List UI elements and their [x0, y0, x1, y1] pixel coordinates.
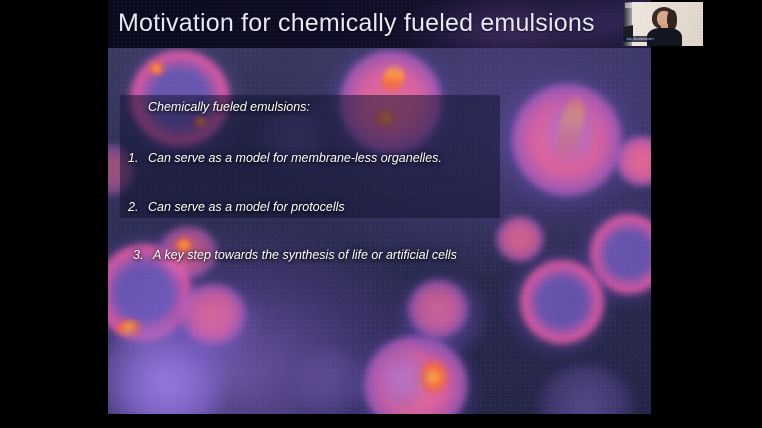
bullet-item-3: 3. A key step towards the synthesis of l…	[133, 248, 457, 262]
slide-title: Motivation for chemically fueled emulsio…	[118, 9, 595, 38]
screen-share-viewport: Motivation for chemically fueled emulsio…	[0, 0, 762, 428]
bullet-number-1: 1.	[128, 151, 148, 165]
presenter-name-label: Job Boekhoven	[626, 36, 654, 42]
bullet-number-3: 3.	[133, 248, 153, 262]
bullet-text-2: Can serve as a model for protocells	[148, 200, 345, 214]
bullet-number-2: 2.	[128, 200, 148, 214]
slide-heading: Chemically fueled emulsions:	[148, 100, 310, 114]
bullet-item-1: 1. Can serve as a model for membrane-les…	[128, 151, 442, 165]
bullet-text-3: A key step towards the synthesis of life…	[153, 248, 457, 262]
webcam-badge	[625, 3, 634, 8]
presenter-hair-right	[667, 10, 677, 30]
slide-body-text: Chemically fueled emulsions: 1. Can serv…	[108, 48, 651, 414]
bullet-item-2: 2. Can serve as a model for protocells	[128, 200, 345, 214]
presentation-slide: Motivation for chemically fueled emulsio…	[108, 0, 651, 414]
presenter-name-badge: Job Boekhoven	[624, 36, 656, 42]
presenter-webcam-tile[interactable]: Job Boekhoven	[623, 2, 703, 46]
bullet-text-1: Can serve as a model for membrane-less o…	[148, 151, 442, 165]
